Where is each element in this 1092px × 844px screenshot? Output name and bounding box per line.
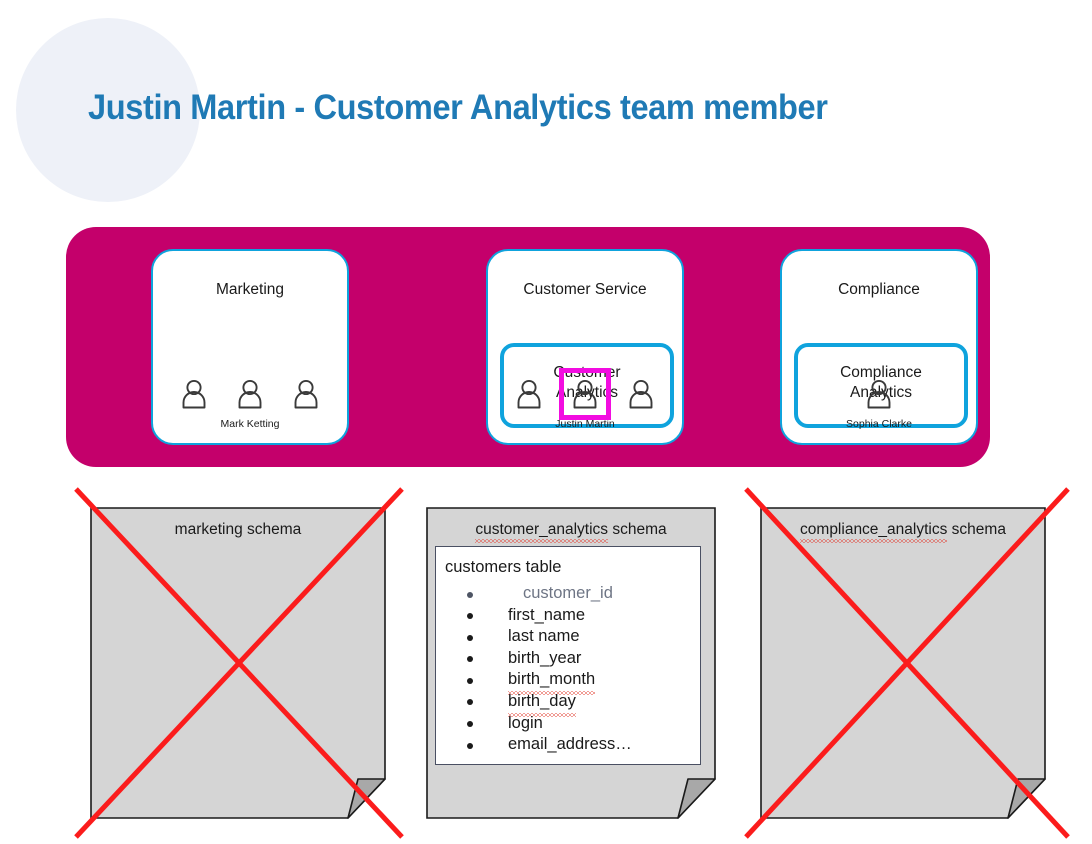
schema-title: customer_analytics schema bbox=[426, 521, 716, 539]
column-label: birth_year bbox=[508, 649, 581, 667]
column-label: email_address… bbox=[508, 735, 632, 753]
department-title: Customer Service bbox=[488, 281, 682, 299]
person-icon[interactable] bbox=[289, 377, 323, 411]
schema-document-marketing[interactable]: marketing schema bbox=[90, 507, 386, 819]
column-label: login bbox=[508, 714, 543, 732]
department-member-name: Mark Ketting bbox=[153, 418, 347, 430]
page-title: Justin Martin - Customer Analytics team … bbox=[88, 88, 828, 128]
table-name: customers table bbox=[445, 558, 561, 577]
column-item[interactable]: login bbox=[445, 713, 632, 735]
person-icon-highlighted-justin-martin[interactable] bbox=[568, 377, 602, 411]
department-title: Compliance bbox=[782, 281, 976, 299]
column-item[interactable]: birth_month bbox=[445, 669, 632, 691]
people-row-marketing bbox=[153, 377, 347, 411]
column-label: first_name bbox=[508, 606, 585, 624]
department-card-compliance[interactable]: Compliance Compliance Analytics Sophia C… bbox=[780, 249, 978, 445]
department-title: Marketing bbox=[153, 281, 347, 299]
column-item[interactable]: customer_id bbox=[445, 583, 632, 605]
column-item[interactable]: first_name bbox=[445, 605, 632, 627]
schema-title-misspelled: compliance_analytics bbox=[800, 521, 947, 539]
column-label: last name bbox=[508, 627, 580, 645]
person-icon[interactable] bbox=[512, 377, 546, 411]
document-shape bbox=[760, 507, 1046, 819]
column-label: birth_day bbox=[508, 691, 576, 713]
department-member-name: Sophia Clarke bbox=[782, 418, 976, 430]
schema-document-customer-analytics[interactable]: customer_analytics schema customers tabl… bbox=[426, 507, 716, 819]
column-item[interactable]: last name bbox=[445, 626, 632, 648]
schema-title: compliance_analytics schema bbox=[760, 521, 1046, 539]
person-icon[interactable] bbox=[177, 377, 211, 411]
person-icon[interactable] bbox=[624, 377, 658, 411]
document-shape bbox=[90, 507, 386, 819]
schema-title-misspelled: customer_analytics bbox=[475, 521, 608, 539]
customers-table-panel[interactable]: customers table customer_id first_name l… bbox=[435, 546, 701, 765]
schema-document-compliance-analytics[interactable]: compliance_analytics schema bbox=[760, 507, 1046, 819]
schema-title-rest: schema bbox=[608, 521, 667, 538]
schema-title: marketing schema bbox=[90, 521, 386, 539]
column-label: customer_id bbox=[523, 584, 613, 602]
department-member-name: Justin Martin bbox=[488, 418, 682, 430]
column-item[interactable]: birth_day bbox=[445, 691, 632, 713]
schema-title-rest: schema bbox=[947, 521, 1006, 538]
person-icon[interactable] bbox=[862, 377, 896, 411]
column-label: birth_month bbox=[508, 669, 595, 691]
people-row-customer-service bbox=[488, 377, 682, 411]
column-item[interactable]: birth_year bbox=[445, 648, 632, 670]
column-list: customer_id first_name last name birth_y… bbox=[445, 583, 632, 756]
department-card-customer-service[interactable]: Customer Service Customer Analytics Just… bbox=[486, 249, 684, 445]
person-icon[interactable] bbox=[233, 377, 267, 411]
department-card-marketing[interactable]: Marketing Mark Ketting bbox=[151, 249, 349, 445]
people-row-compliance bbox=[782, 377, 976, 411]
column-item[interactable]: email_address… bbox=[445, 734, 632, 756]
org-chart-container: Marketing Mark Ketting Customer Service … bbox=[66, 227, 990, 467]
